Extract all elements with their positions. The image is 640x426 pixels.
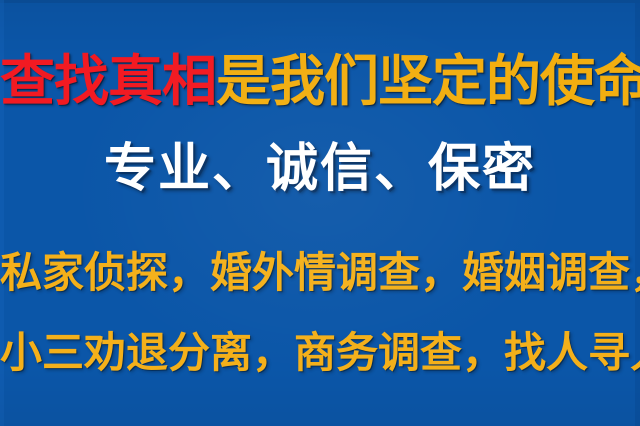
banner-top-edge bbox=[0, 0, 640, 3]
services-text-line-1: 私家侦探，婚外情调查，婚姻调查， bbox=[0, 247, 640, 299]
headline-text: 查找真相是我们坚定的使命 bbox=[0, 50, 640, 112]
headline-emphasis-text: 查找真相 bbox=[0, 49, 216, 113]
headline-rest-text: 是我们坚定的使命 bbox=[216, 49, 640, 113]
services-text-line-2: 小三劝退分离，商务调查，找人寻人 bbox=[0, 327, 640, 379]
advertisement-banner: 查找真相是我们坚定的使命 专业、诚信、保密 私家侦探，婚外情调查，婚姻调查， 小… bbox=[0, 0, 640, 426]
values-text: 专业、诚信、保密 bbox=[0, 138, 640, 200]
